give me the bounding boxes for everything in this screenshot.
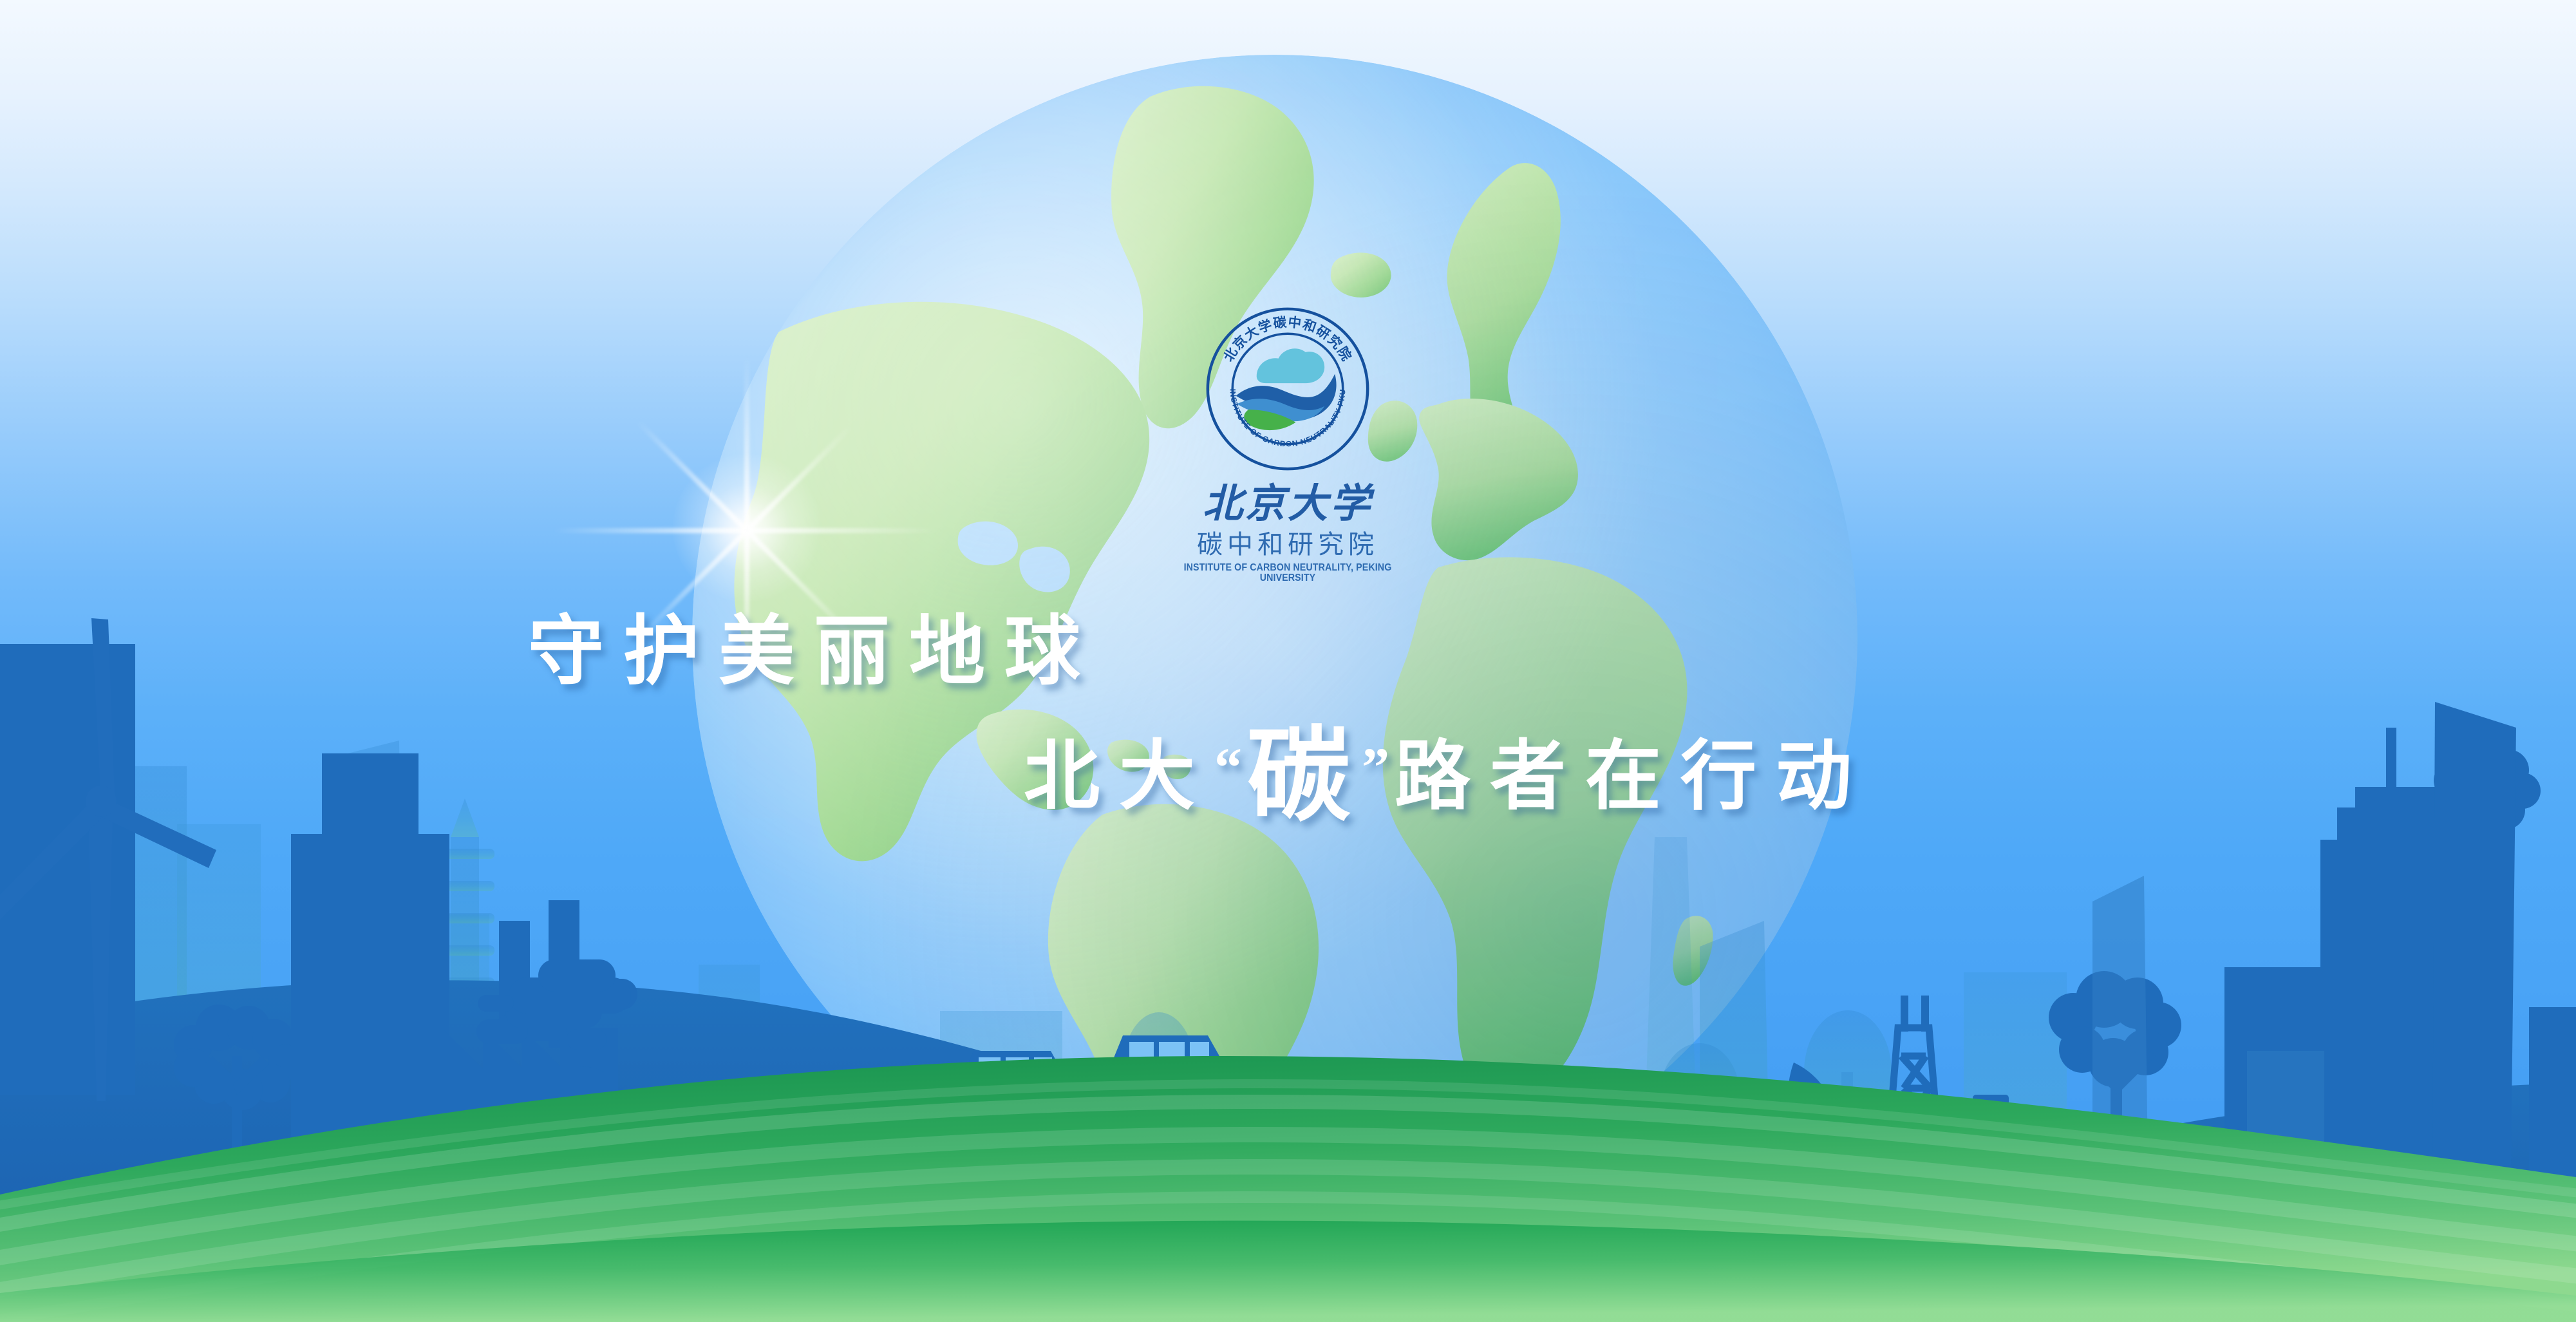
drilling-derrick (1960, 1109, 2022, 1243)
skyscraper (2247, 1051, 2324, 1187)
chimney (549, 900, 579, 1048)
earth-globe (692, 55, 1857, 1220)
drilling-derrick (1901, 996, 1929, 1032)
tree (2049, 971, 2181, 1204)
institute-logo: 北京大学碳中和研究院 INSTITUTE OF CARBON NEUTRALIT… (1169, 303, 1407, 573)
skyscraper (2224, 967, 2347, 1186)
poster-canvas: 北京大学碳中和研究院 INSTITUTE OF CARBON NEUTRALIT… (0, 0, 2576, 1322)
wind-turbine (0, 618, 216, 1101)
smoke-cloud (478, 959, 631, 1014)
green-hill-front (0, 1221, 2576, 1322)
derrick-cap (1973, 1095, 2009, 1111)
skyscraper (2092, 876, 2148, 1166)
skyscraper (291, 753, 449, 1137)
skyscraper (2529, 1007, 2576, 1194)
drilling-derrick (1881, 1028, 1946, 1230)
skyscraper (2432, 702, 2516, 1175)
pagoda (435, 798, 494, 1198)
factory (444, 900, 662, 1157)
skyscraper (2320, 728, 2483, 1175)
wordmark-cn: 北京大学 (1169, 484, 1407, 524)
office-building (0, 644, 135, 1095)
wordmark-en: INSTITUTE OF CARBON NEUTRALITY, PEKING U… (1178, 563, 1397, 583)
smoke-cloud (476, 979, 637, 1050)
globe-landmasses (692, 55, 1857, 1220)
chimney (499, 921, 530, 1043)
pipe (579, 1066, 619, 1154)
institute-seal-icon: 北京大学碳中和研究院 INSTITUTE OF CARBON NEUTRALIT… (1201, 303, 1374, 475)
tree (174, 1005, 304, 1204)
tree (2434, 742, 2541, 962)
wordmark-cn-sub: 碳中和研究院 (1169, 532, 1407, 558)
